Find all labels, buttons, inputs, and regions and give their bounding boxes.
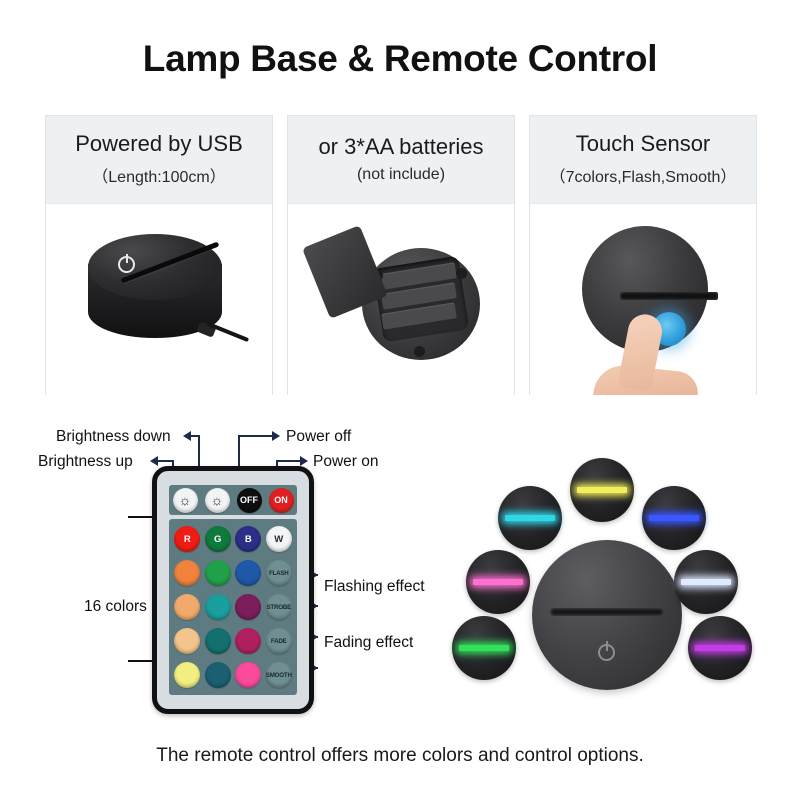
panel-header: Touch Sensor （7colors,Flash,Smooth） [530,116,756,204]
led-bar [473,579,523,585]
color-purple-button[interactable] [235,594,261,620]
acrylic-slot [550,608,664,616]
arrow-power-on [300,456,308,466]
flash-button[interactable]: FLASH [266,560,292,586]
mini-lamp-cyan [498,486,562,550]
remote-section: Brightness down Brightness up Power off … [0,408,800,738]
label-power-on: Power on [313,453,378,471]
label-flashing-effect: Flashing effect [324,578,425,596]
leader-power-off-h [238,435,272,437]
power-icon [598,644,615,661]
panel-header: or 3*AA batteries (not include) [288,116,514,204]
color-blue2-button[interactable] [235,560,261,586]
rubber-foot [414,346,425,357]
mini-lamp-yellow [570,458,634,522]
infographic-root: Lamp Base & Remote Control Powered by US… [0,0,800,800]
panel-subtitle: （Length:100cm） [92,163,225,187]
color-pink-button[interactable] [235,662,261,688]
feature-panels: Powered by USB （Length:100cm） or 3*AA ba… [45,115,757,395]
panel-title: Powered by USB [75,132,243,156]
page-title: Lamp Base & Remote Control [0,38,800,80]
color-darkteal-button[interactable] [205,628,231,654]
led-bar [681,579,731,585]
panel-image-touch-sensor [530,204,756,395]
panel-subtitle: (not include) [357,166,445,184]
mini-lamp-white [674,550,738,614]
color-white-button[interactable]: W [266,526,292,552]
color-button-grid: RGBWFLASHSTROBEFADESMOOTH [173,523,293,691]
color-peach-button[interactable] [174,628,200,654]
led-bar [649,515,699,521]
acrylic-slot [121,242,220,284]
panel-image-battery-compartment [288,204,514,395]
led-bar [459,645,509,651]
power-on-button[interactable]: ON [269,488,294,513]
smooth-button[interactable]: SMOOTH [266,662,292,688]
color-teal-button[interactable] [205,594,231,620]
power-icon [118,256,135,273]
mini-lamp-blue [642,486,706,550]
color-navyteal-button[interactable] [205,662,231,688]
leader-brightness-up-h [158,460,174,462]
label-power-off: Power off [286,428,351,446]
remote-keypad: RGBWFLASHSTROBEFADESMOOTH [169,519,297,695]
label-brightness-down: Brightness down [56,428,171,446]
acrylic-slot [620,292,718,300]
led-bar [695,645,745,651]
arrow-power-off [272,431,280,441]
color-blue-button[interactable]: B [235,526,261,552]
mini-lamp-green [452,616,516,680]
panel-header: Powered by USB （Length:100cm） [46,116,272,204]
lamp-base-illustration [74,226,246,376]
strobe-button[interactable]: STROBE [266,594,292,620]
brightness-up-button[interactable]: ☼ [205,488,230,513]
mini-lamp-pink [466,550,530,614]
mini-lamp-purple [688,616,752,680]
brightness-down-button[interactable]: ☼ [173,488,198,513]
color-yellow-button[interactable] [174,662,200,688]
label-fading-effect: Fading effect [324,634,413,652]
rubber-foot [456,268,467,279]
arrow-brightness-down [183,431,191,441]
panel-touch-sensor: Touch Sensor （7colors,Flash,Smooth） [529,115,757,395]
color-green-button[interactable]: G [205,526,231,552]
battery-base-illustration [310,224,496,379]
panel-aa-batteries: or 3*AA batteries (not include) [287,115,515,395]
color-green2-button[interactable] [205,560,231,586]
color-orange-button[interactable] [174,560,200,586]
sun-bright-icon: ☼ [179,493,192,507]
bottom-caption: The remote control offers more colors an… [0,745,800,767]
panel-subtitle: （7colors,Flash,Smooth） [550,163,737,187]
color-red-button[interactable]: R [174,526,200,552]
panel-title: or 3*AA batteries [318,135,483,159]
fade-button[interactable]: FADE [266,628,292,654]
lamp-color-demo [452,458,782,708]
panel-title: Touch Sensor [576,132,711,156]
label-brightness-up: Brightness up [38,453,133,471]
lamp-base-top [88,234,222,300]
panel-powered-by-usb: Powered by USB （Length:100cm） [45,115,273,395]
remote-control[interactable]: ☼ ☼ OFF ON RGBWFLASHSTROBEFADESMOOTH [152,466,314,714]
main-lamp-base [532,540,682,690]
power-off-button[interactable]: OFF [237,488,262,513]
sun-bright-icon: ☼ [211,493,224,507]
color-lightorange-button[interactable] [174,594,200,620]
color-magenta-button[interactable] [235,628,261,654]
arrow-brightness-up [150,456,158,466]
panel-image-usb-lamp-base [46,204,272,395]
label-16-colors: 16 colors [84,598,147,616]
led-bar [577,487,627,493]
leader-power-on-h [276,460,300,462]
remote-top-row: ☼ ☼ OFF ON [169,485,297,515]
leader-brightness-down-h3 [191,435,199,437]
led-bar [505,515,555,521]
touch-sensor-illustration [558,218,730,395]
